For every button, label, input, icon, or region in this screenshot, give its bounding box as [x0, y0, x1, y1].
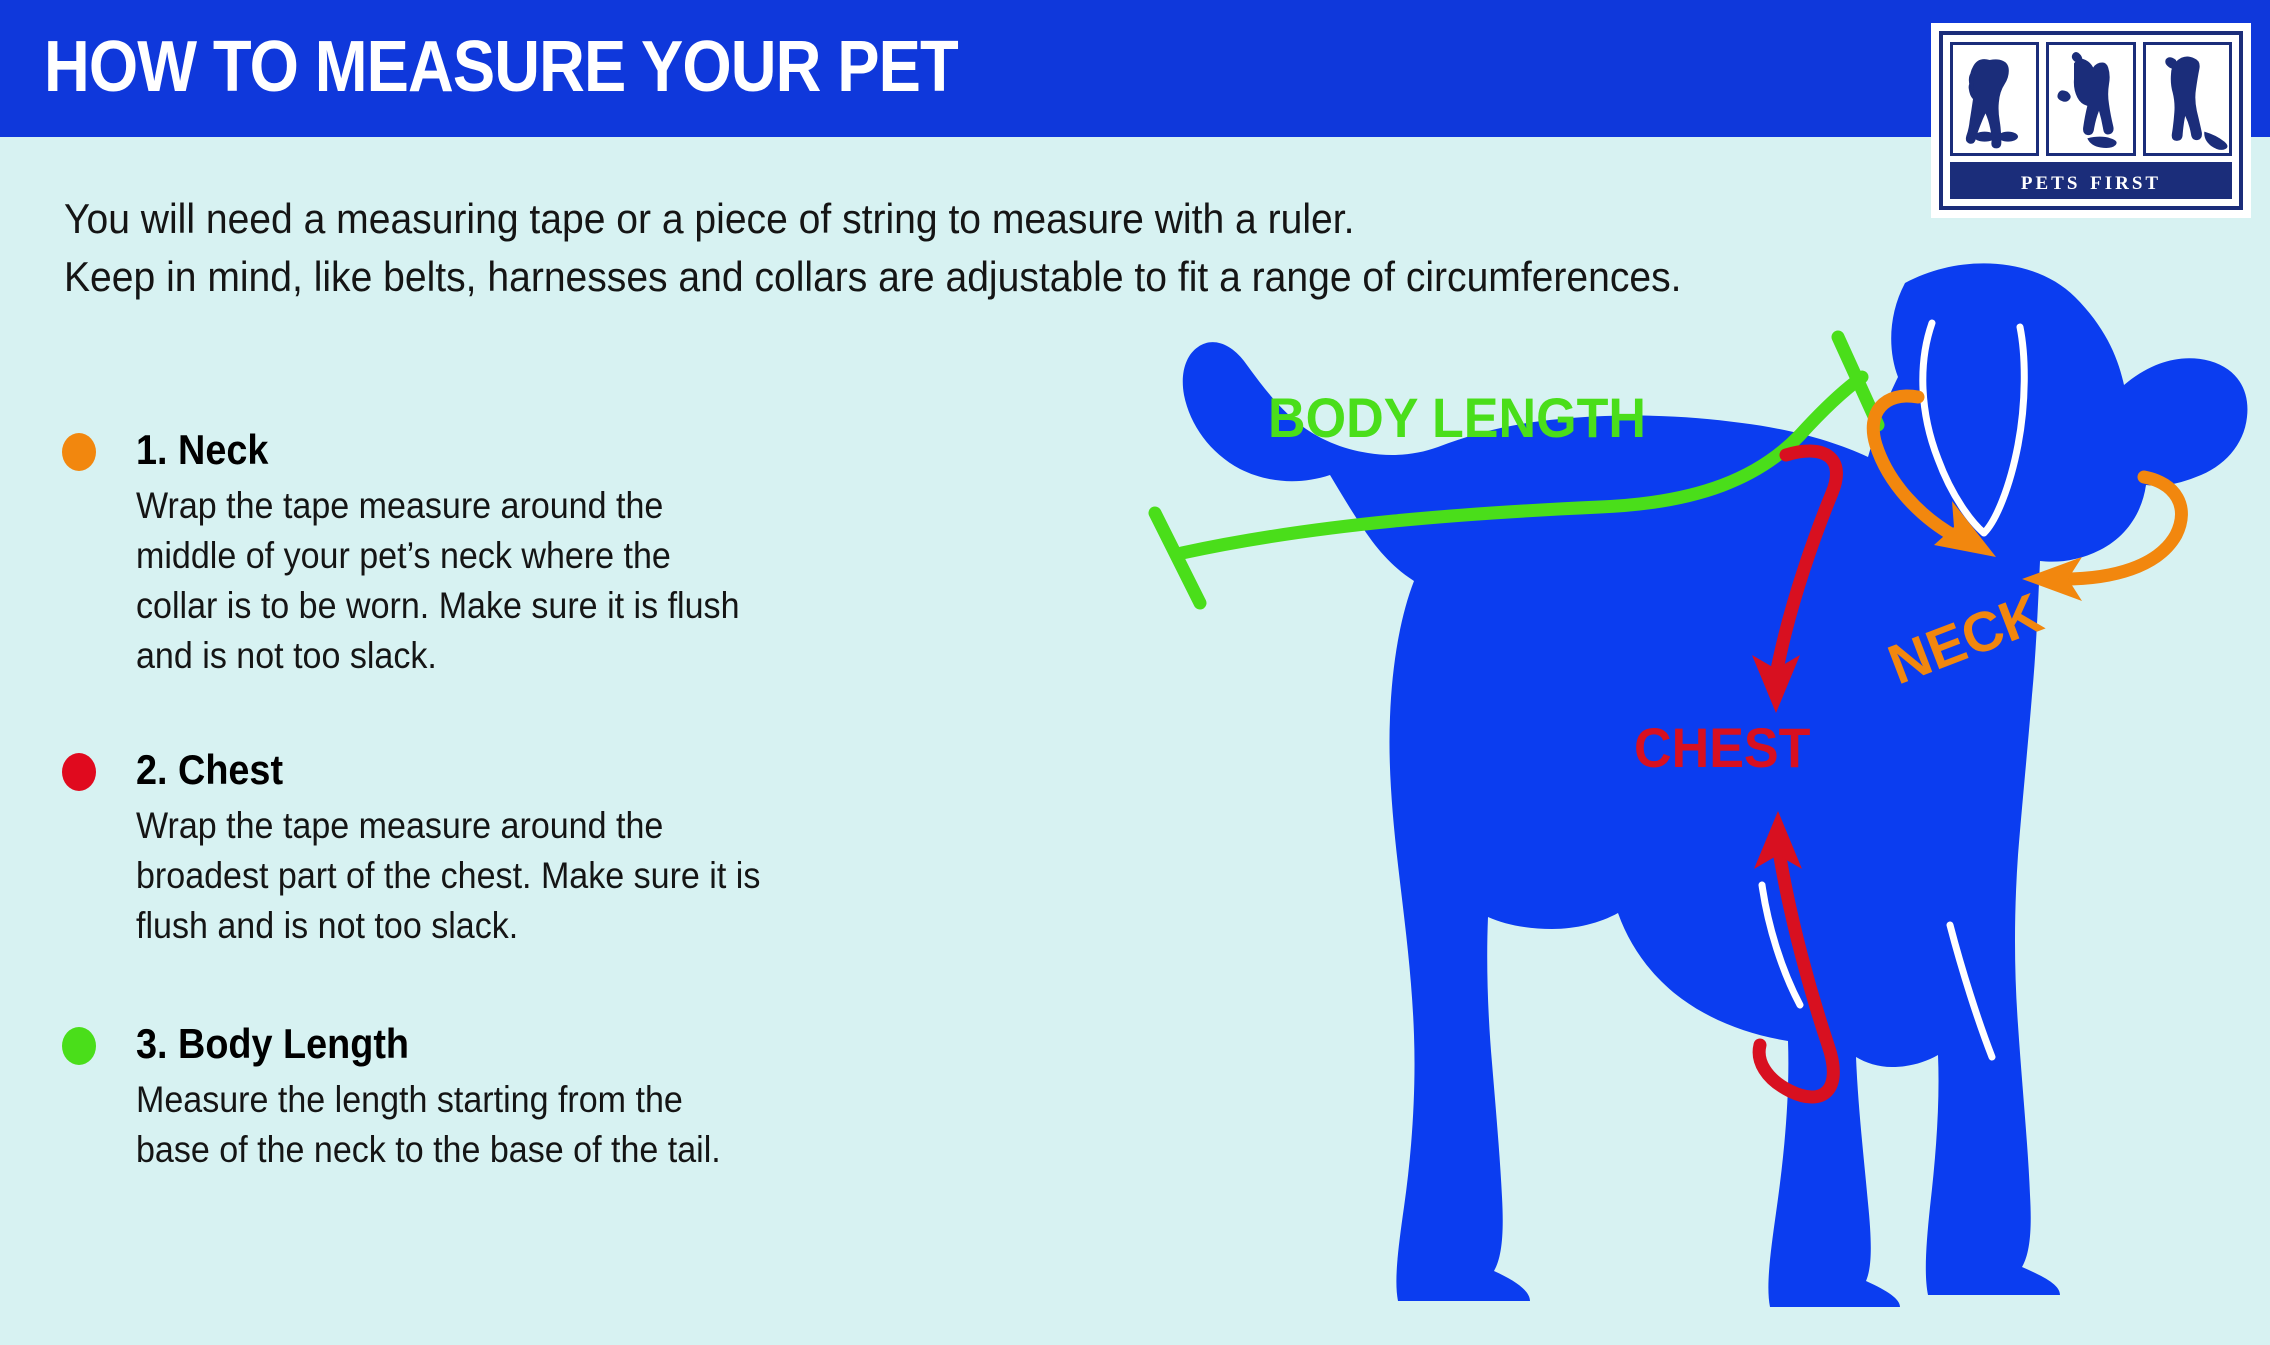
list-item: 1. Neck Wrap the tape measure around the…: [62, 425, 1022, 681]
label-body-length: BODY LENGTH: [1268, 387, 1646, 449]
step-body-chest: Wrap the tape measure around the broades…: [136, 801, 762, 951]
list-item: 3. Body Length Measure the length starti…: [62, 1019, 1022, 1175]
step-title-neck: 1. Neck: [136, 425, 933, 475]
step-title-body-length: 3. Body Length: [136, 1019, 933, 1069]
dog-measurement-diagram: BODY LENGTH CHEST NECK: [1000, 245, 2270, 1345]
logo-wordmark: Pets First: [1950, 162, 2232, 199]
dog-shaking-paw-icon: [2046, 42, 2135, 156]
bullet-body-length-icon: [62, 1027, 96, 1065]
label-chest: CHEST: [1634, 717, 1810, 779]
dog-sitting-alert-icon: [2143, 42, 2232, 156]
logo-panels: [1950, 42, 2232, 156]
page-title: HOW TO MEASURE YOUR PET: [44, 24, 958, 110]
measurement-steps-list: 1. Neck Wrap the tape measure around the…: [62, 425, 1022, 1237]
step-body-body-length: Measure the length starting from the bas…: [136, 1075, 762, 1175]
step-title-chest: 2. Chest: [136, 745, 933, 795]
bullet-chest-icon: [62, 753, 96, 791]
bullet-neck-icon: [62, 433, 96, 471]
step-body-neck: Wrap the tape measure around the middle …: [136, 481, 762, 681]
brand-logo: Pets First: [1931, 23, 2251, 218]
logo-frame: Pets First: [1939, 31, 2243, 210]
dog-sitting-icon: [1950, 42, 2039, 156]
intro-line-1: You will need a measuring tape or a piec…: [64, 190, 1738, 248]
infographic-page: HOW TO MEASURE YOUR PET: [0, 0, 2270, 1345]
list-item: 2. Chest Wrap the tape measure around th…: [62, 745, 1022, 951]
